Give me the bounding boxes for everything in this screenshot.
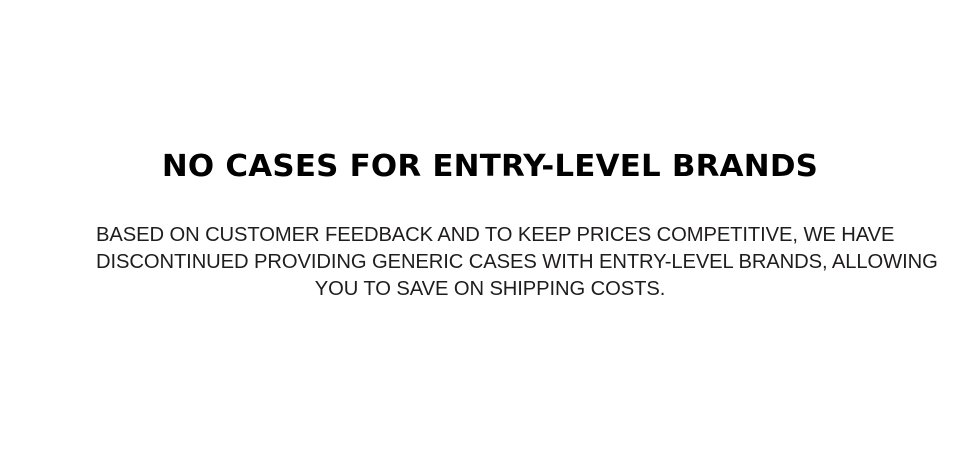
promo-banner: NO CASES FOR ENTRY-LEVEL BRANDS BASED ON… (0, 0, 980, 450)
promo-description-line: BASED ON CUSTOMER FEEDBACK AND TO KEEP P… (96, 221, 884, 248)
promo-description-line: DISCONTINUED PROVIDING GENERIC CASES WIT… (96, 248, 884, 275)
promo-description: BASED ON CUSTOMER FEEDBACK AND TO KEEP P… (96, 221, 884, 302)
promo-description-line: YOU TO SAVE ON SHIPPING COSTS. (96, 275, 884, 302)
page-title: NO CASES FOR ENTRY-LEVEL BRANDS (27, 150, 954, 184)
promo-content-block: NO CASES FOR ENTRY-LEVEL BRANDS BASED ON… (40, 150, 940, 302)
